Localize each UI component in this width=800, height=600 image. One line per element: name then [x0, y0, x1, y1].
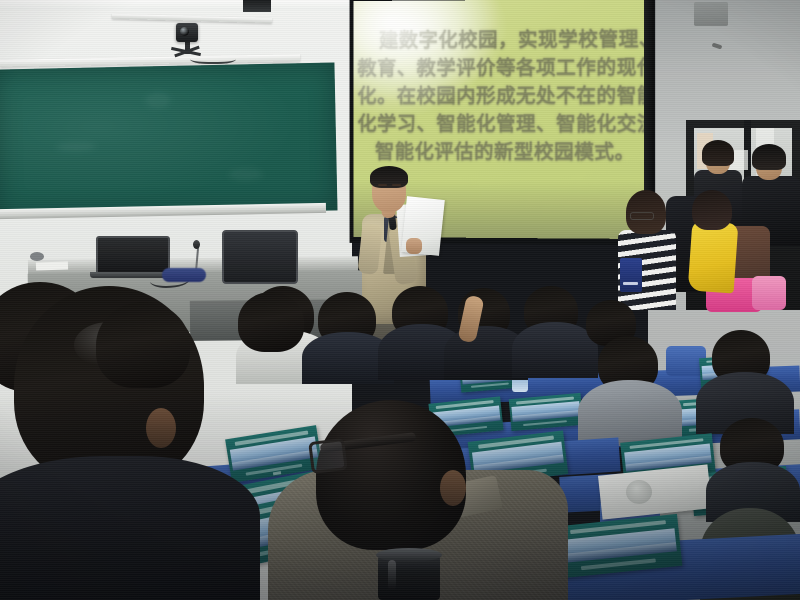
microphone-icon — [193, 240, 200, 249]
paper-graphic — [626, 480, 652, 504]
presenter-eyebrow-right — [392, 184, 401, 186]
presenter-eyebrow-left — [378, 184, 387, 186]
yellow-scarf — [688, 220, 739, 293]
presenter-hand-holding-papers — [406, 238, 422, 254]
screen-line-4: 化学习、智能化管理、智能化交流、 — [357, 110, 649, 138]
audience-head-l3 — [96, 302, 190, 388]
standing-man-right-hair — [752, 144, 786, 170]
lecture-hall-photo: 建数字化校园，实现学校管理、 教育、教学评价等各项工作的现代 化。在校园内形成无… — [0, 0, 800, 600]
thermos-cup-rim — [376, 548, 442, 562]
blue-cloth-item — [162, 268, 206, 282]
ceiling-strip — [0, 0, 352, 10]
podium-papers — [36, 261, 68, 270]
projection-screen-text: 建数字化校园，实现学校管理、 教育、教学评价等各项工作的现代 化。在校园内形成无… — [357, 25, 649, 166]
woman-glasses-badge-text — [623, 282, 638, 285]
woman-scarf-bag — [752, 276, 786, 310]
audience-shoulders-grey-m1 — [578, 380, 682, 446]
woman-glasses-badge — [620, 258, 642, 292]
camera-lens-icon — [180, 27, 189, 36]
ceiling-fixture — [243, 0, 271, 12]
foreground-man-glasses-lens-icon — [308, 438, 348, 474]
audience-head-b1b — [238, 292, 304, 352]
wall-vent — [694, 2, 728, 26]
screen-line-2: 教育、教学评价等各项工作的现代 — [357, 53, 649, 82]
screen-line-1: 建数字化校园，实现学校管理、 — [357, 25, 649, 54]
foreground-man-ear — [440, 470, 466, 506]
screen-line-3: 化。在校园内形成无处不在的智能 — [357, 82, 649, 110]
eyeglasses-icon — [630, 212, 654, 220]
audience-ear-l2 — [146, 408, 176, 448]
brochure-r2-b — [509, 393, 584, 431]
woman-scarf-hair — [692, 190, 732, 230]
standing-man-left-hair — [702, 140, 734, 166]
audience-shoulders-b5 — [512, 322, 598, 378]
computer-mouse — [30, 252, 44, 261]
podium-chair — [222, 230, 298, 284]
audience-shoulders-l2 — [0, 456, 260, 600]
screen-line-5: 智能化评估的新型校园模式。 — [357, 138, 649, 167]
green-chalkboard — [0, 62, 338, 217]
thermos-cup-highlight — [388, 560, 396, 590]
camera-cable — [190, 52, 236, 64]
presenter-hair — [370, 166, 408, 188]
